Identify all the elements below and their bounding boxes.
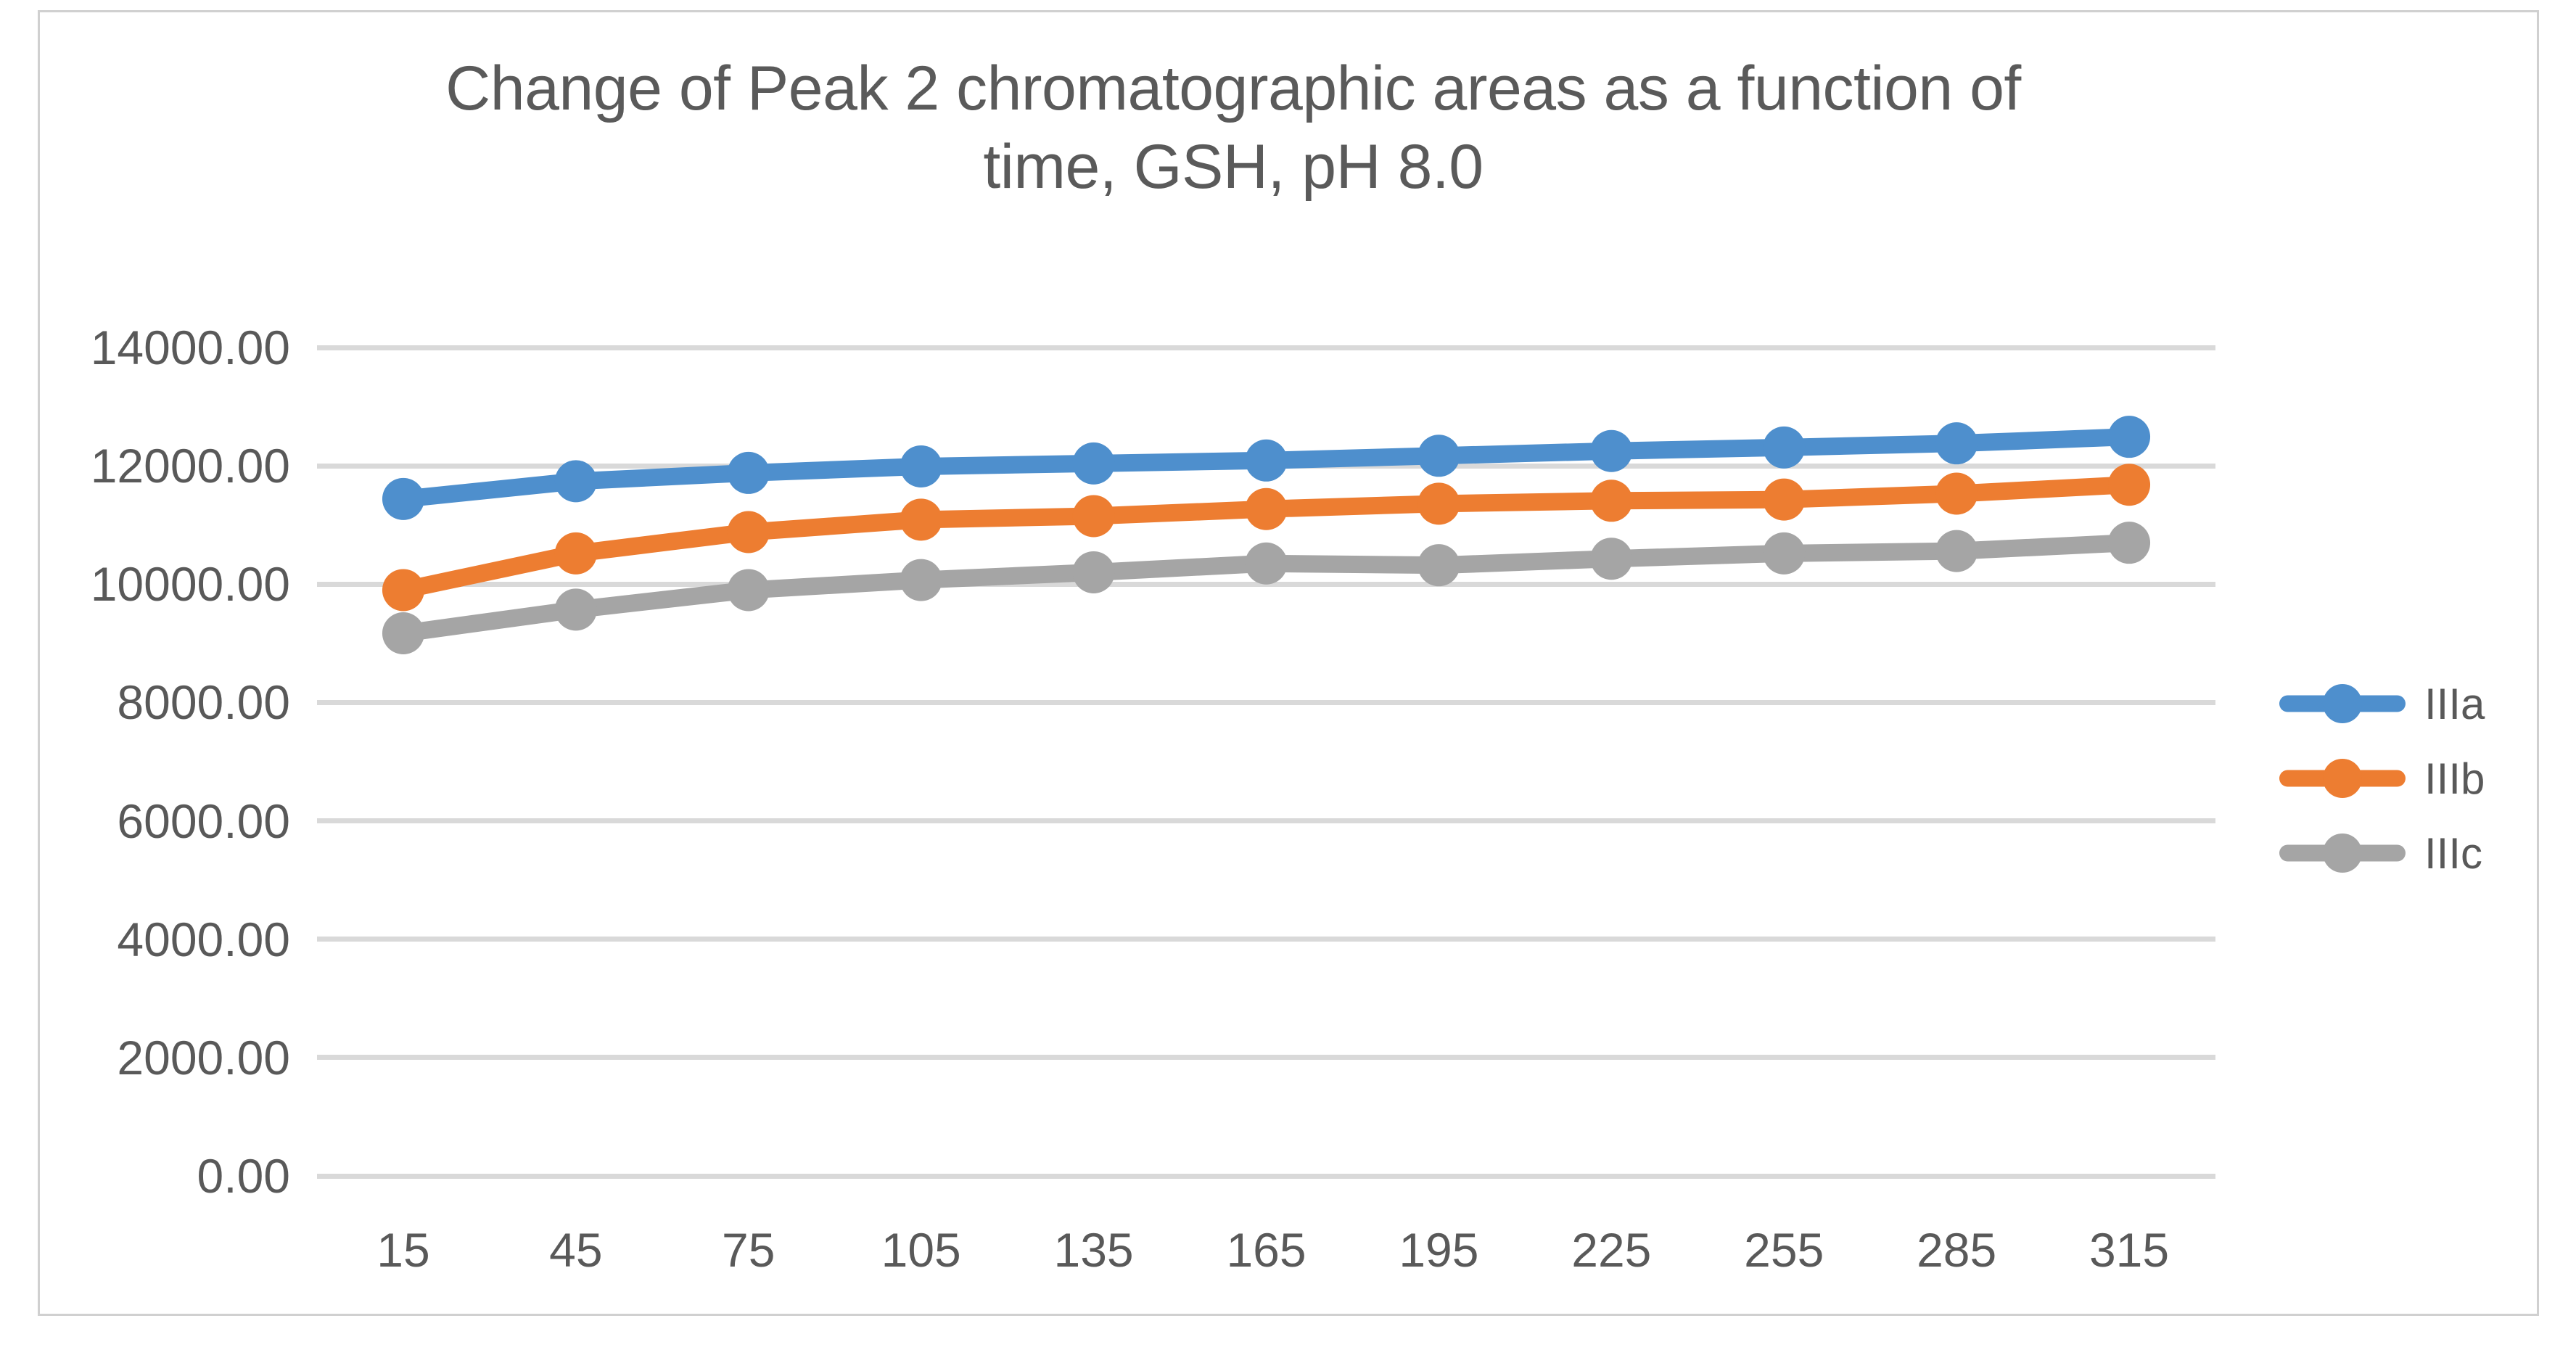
legend-item-label: IIIa: [2424, 679, 2485, 729]
data-point[interactable]: [1590, 430, 1632, 472]
data-point[interactable]: [1417, 482, 1460, 524]
data-point[interactable]: [1763, 427, 1805, 469]
chart-title-line-1: Change of Peak 2 chromatographic areas a…: [218, 49, 2249, 128]
legend-item-label: IIIb: [2424, 754, 2485, 804]
data-point[interactable]: [1073, 551, 1115, 593]
data-point[interactable]: [1763, 479, 1805, 521]
data-point[interactable]: [1417, 544, 1460, 586]
chart-title-line-2: time, GSH, pH 8.0: [218, 128, 2249, 206]
data-point[interactable]: [555, 532, 597, 575]
data-point[interactable]: [2108, 464, 2150, 506]
data-point[interactable]: [1935, 422, 1978, 464]
data-point[interactable]: [2108, 522, 2150, 564]
data-point[interactable]: [1246, 543, 1288, 585]
data-point[interactable]: [1417, 435, 1460, 477]
data-point[interactable]: [382, 569, 424, 611]
legend-marker-icon: [2278, 828, 2407, 878]
data-point[interactable]: [1590, 538, 1632, 580]
data-point[interactable]: [382, 478, 424, 520]
data-point[interactable]: [900, 498, 942, 540]
data-point[interactable]: [382, 612, 424, 654]
legend-marker-icon: [2278, 678, 2407, 729]
plot-area: [317, 347, 2215, 1176]
data-point[interactable]: [900, 559, 942, 601]
data-point[interactable]: [728, 569, 770, 611]
legend-item-label: IIIc: [2424, 828, 2482, 878]
legend-item-IIIc[interactable]: IIIc: [2278, 824, 2482, 882]
data-point[interactable]: [1073, 443, 1115, 485]
chart-title: Change of Peak 2 chromatographic areas a…: [218, 49, 2249, 207]
chart-page: Change of Peak 2 chromatographic areas a…: [0, 0, 2576, 1350]
data-point[interactable]: [1246, 488, 1288, 530]
legend-marker-icon: [2278, 753, 2407, 804]
data-point[interactable]: [555, 588, 597, 630]
legend-item-IIIa[interactable]: IIIa: [2278, 675, 2485, 733]
data-point[interactable]: [1590, 480, 1632, 522]
data-point[interactable]: [555, 460, 597, 502]
data-point[interactable]: [1935, 472, 1978, 514]
data-point[interactable]: [2108, 416, 2150, 458]
data-point[interactable]: [1935, 530, 1978, 572]
chart-legend: IIIaIIIbIIIc: [2278, 675, 2539, 914]
data-point[interactable]: [1763, 532, 1805, 575]
legend-item-IIIb[interactable]: IIIb: [2278, 749, 2485, 807]
data-point[interactable]: [728, 511, 770, 553]
data-point[interactable]: [728, 452, 770, 494]
series-layer: [317, 347, 2215, 1176]
data-point[interactable]: [900, 445, 942, 487]
data-point[interactable]: [1246, 440, 1288, 482]
data-point[interactable]: [1073, 495, 1115, 537]
